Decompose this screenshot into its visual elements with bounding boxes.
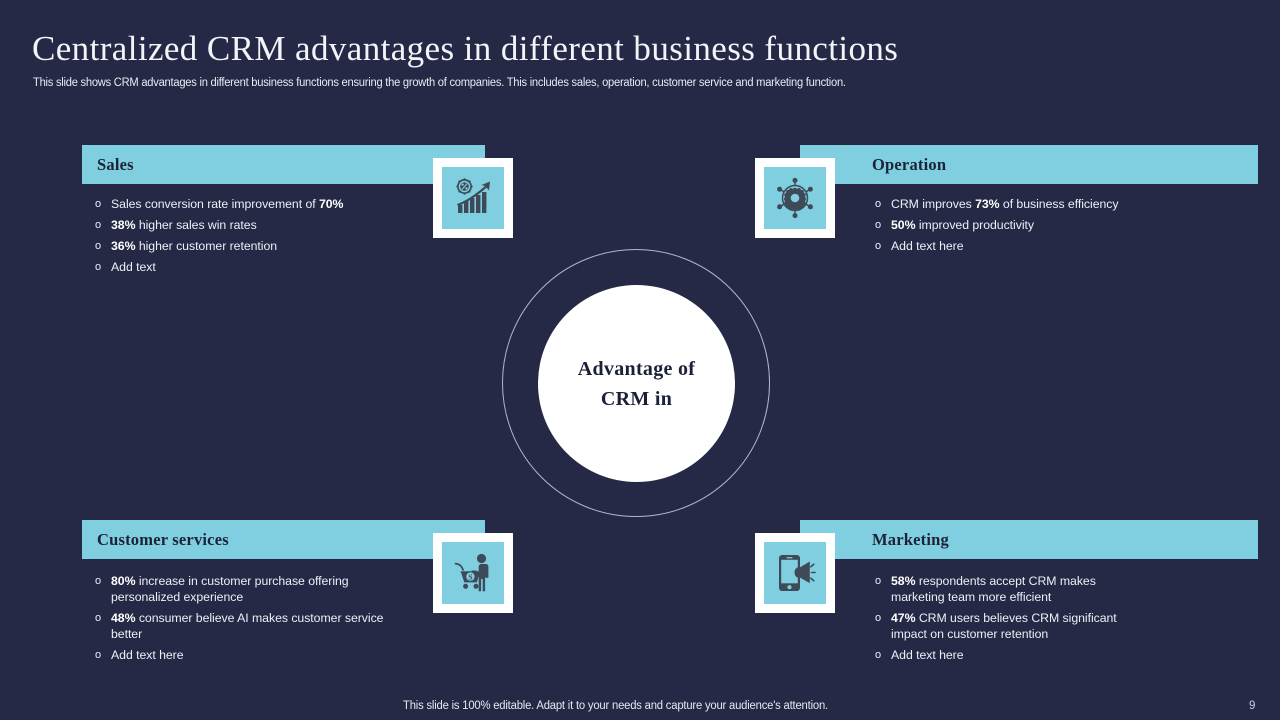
bullet-marker-icon: o <box>875 238 891 254</box>
list-item: o50% improved productivity <box>875 217 1175 233</box>
bullet-marker-icon: o <box>95 196 111 212</box>
quadrant-sales-bullets: oSales conversion rate improvement of 70… <box>95 196 415 280</box>
page-title: Centralized CRM advantages in different … <box>32 28 1242 70</box>
bullet-marker-icon: o <box>95 217 111 233</box>
list-item-text: CRM improves 73% of business efficiency <box>891 196 1175 212</box>
bullet-marker-icon: o <box>95 610 111 626</box>
list-item-text: 48% consumer believe AI makes customer s… <box>111 610 385 642</box>
bullet-marker-icon: o <box>95 238 111 254</box>
quadrant-operation-bullets: oCRM improves 73% of business efficiency… <box>875 196 1175 259</box>
list-item-text: Sales conversion rate improvement of 70% <box>111 196 415 212</box>
list-item: o38% higher sales win rates <box>95 217 415 233</box>
quadrant-marketing-title: Marketing <box>872 530 949 550</box>
list-item-text: 38% higher sales win rates <box>111 217 415 233</box>
list-item: oAdd text here <box>875 238 1175 254</box>
list-item-text: 50% improved productivity <box>891 217 1175 233</box>
bullet-marker-icon: o <box>875 610 891 626</box>
list-item: o47% CRM users believes CRM significant … <box>875 610 1150 642</box>
list-item: oAdd text here <box>95 647 385 663</box>
quadrant-sales-title: Sales <box>97 155 134 175</box>
center-circle: Advantage of CRM in <box>538 285 735 482</box>
smartphone-megaphone-icon <box>764 542 826 604</box>
page-number: 9 <box>1249 700 1255 712</box>
list-item: oSales conversion rate improvement of 70… <box>95 196 415 212</box>
quadrant-customer-services-icon-tile: S <box>433 533 513 613</box>
center-line-2: CRM in <box>601 388 672 410</box>
gear-network-icon <box>764 167 826 229</box>
list-item: o36% higher customer retention <box>95 238 415 254</box>
center-circle-text: Advantage of CRM in <box>578 354 696 414</box>
list-item: o48% consumer believe AI makes customer … <box>95 610 385 642</box>
list-item: oAdd text <box>95 259 415 275</box>
slide-root: Centralized CRM advantages in different … <box>0 0 1280 720</box>
quadrant-sales-icon-tile <box>433 158 513 238</box>
growth-chart-percent-icon <box>442 167 504 229</box>
list-item: oAdd text here <box>875 647 1150 663</box>
list-item-text: 58% respondents accept CRM makes marketi… <box>891 573 1150 605</box>
bullet-marker-icon: o <box>875 647 891 663</box>
quadrant-sales-header: Sales <box>82 145 485 184</box>
list-item: oCRM improves 73% of business efficiency <box>875 196 1175 212</box>
quadrant-customer-services-title: Customer services <box>97 530 229 550</box>
bullet-marker-icon: o <box>875 217 891 233</box>
quadrant-marketing-icon-tile <box>755 533 835 613</box>
list-item: o80% increase in customer purchase offer… <box>95 573 385 605</box>
list-item-text: Add text here <box>111 647 385 663</box>
list-item-text: Add text here <box>891 647 1150 663</box>
page-subtitle: This slide shows CRM advantages in diffe… <box>33 76 1178 90</box>
quadrant-operation-icon-tile <box>755 158 835 238</box>
bullet-marker-icon: o <box>95 259 111 275</box>
quadrant-customer-services-header: Customer services <box>82 520 485 559</box>
shopping-cart-customer-icon: S <box>442 542 504 604</box>
bullet-marker-icon: o <box>875 573 891 589</box>
list-item-text: 47% CRM users believes CRM significant i… <box>891 610 1150 642</box>
footer-note: This slide is 100% editable. Adapt it to… <box>403 700 828 712</box>
bullet-marker-icon: o <box>875 196 891 212</box>
svg-text:S: S <box>468 573 472 582</box>
list-item-text: Add text here <box>891 238 1175 254</box>
center-line-1: Advantage of <box>578 358 696 380</box>
quadrant-marketing-bullets: o58% respondents accept CRM makes market… <box>875 573 1150 668</box>
list-item-text: Add text <box>111 259 415 275</box>
quadrant-marketing-header: Marketing <box>800 520 1258 559</box>
quadrant-operation-header: Operation <box>800 145 1258 184</box>
quadrant-operation-title: Operation <box>872 155 946 175</box>
quadrant-customer-services-bullets: o80% increase in customer purchase offer… <box>95 573 385 668</box>
list-item-text: 36% higher customer retention <box>111 238 415 254</box>
list-item: o58% respondents accept CRM makes market… <box>875 573 1150 605</box>
list-item-text: 80% increase in customer purchase offeri… <box>111 573 385 605</box>
bullet-marker-icon: o <box>95 573 111 589</box>
bullet-marker-icon: o <box>95 647 111 663</box>
